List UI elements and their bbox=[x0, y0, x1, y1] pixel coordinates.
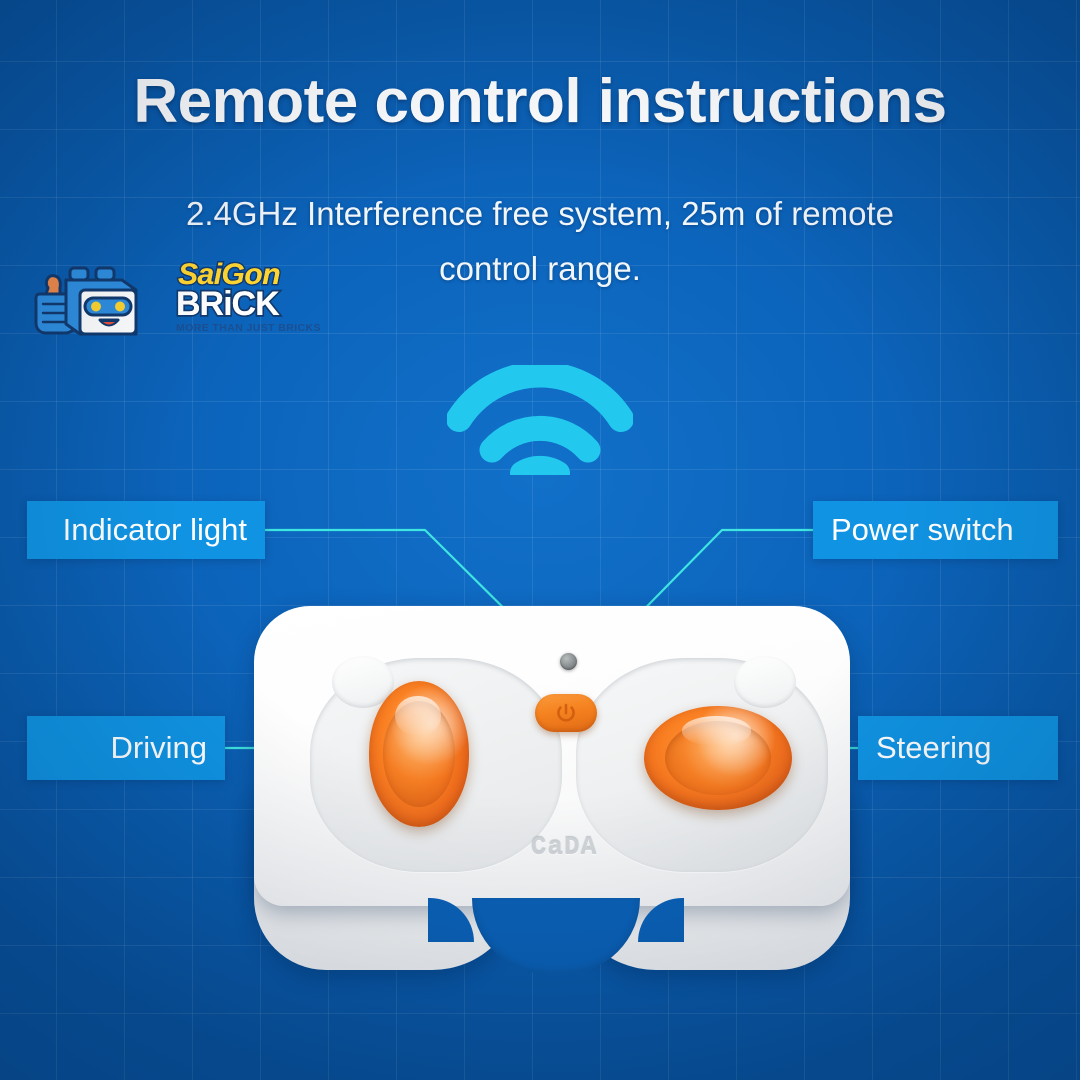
controller-brand-text: CaDA bbox=[504, 832, 624, 862]
indicator-light-led bbox=[560, 653, 577, 670]
logo-tagline: MORE THAN JUST BRICKS bbox=[176, 322, 321, 334]
remote-controller: CaDA bbox=[236, 598, 856, 998]
controller-bottom-notch bbox=[472, 898, 640, 974]
right-joystick[interactable] bbox=[644, 706, 792, 810]
controller-body: CaDA bbox=[254, 606, 850, 906]
saigon-brick-logo: SaiGon SaiGon BRiCK BRiCK MORE THAN JUST… bbox=[26, 254, 288, 348]
power-button[interactable] bbox=[535, 694, 597, 732]
callout-indicator-light[interactable]: Indicator light bbox=[27, 501, 265, 559]
callout-steering[interactable]: Steering bbox=[858, 716, 1058, 780]
right-joystick-gloss bbox=[682, 716, 750, 745]
wifi-signal-icon bbox=[447, 365, 633, 475]
logo-name-bottom: BRiCK bbox=[176, 285, 279, 324]
callout-power-switch[interactable]: Power switch bbox=[813, 501, 1058, 559]
left-joystick-gloss bbox=[395, 696, 441, 737]
page-title: Remote control instructions bbox=[0, 66, 1080, 137]
power-symbol-icon bbox=[556, 702, 576, 724]
logo-wordmark: SaiGon SaiGon BRiCK BRiCK MORE THAN JUST… bbox=[146, 254, 288, 348]
callout-driving[interactable]: Driving bbox=[27, 716, 225, 780]
poster-stage: Remote control instructions 2.4GHz Inter… bbox=[0, 0, 1080, 1080]
brick-robot-thumbsup-icon bbox=[26, 260, 144, 344]
left-joystick[interactable] bbox=[369, 681, 469, 827]
right-shoulder-bump bbox=[734, 656, 796, 708]
